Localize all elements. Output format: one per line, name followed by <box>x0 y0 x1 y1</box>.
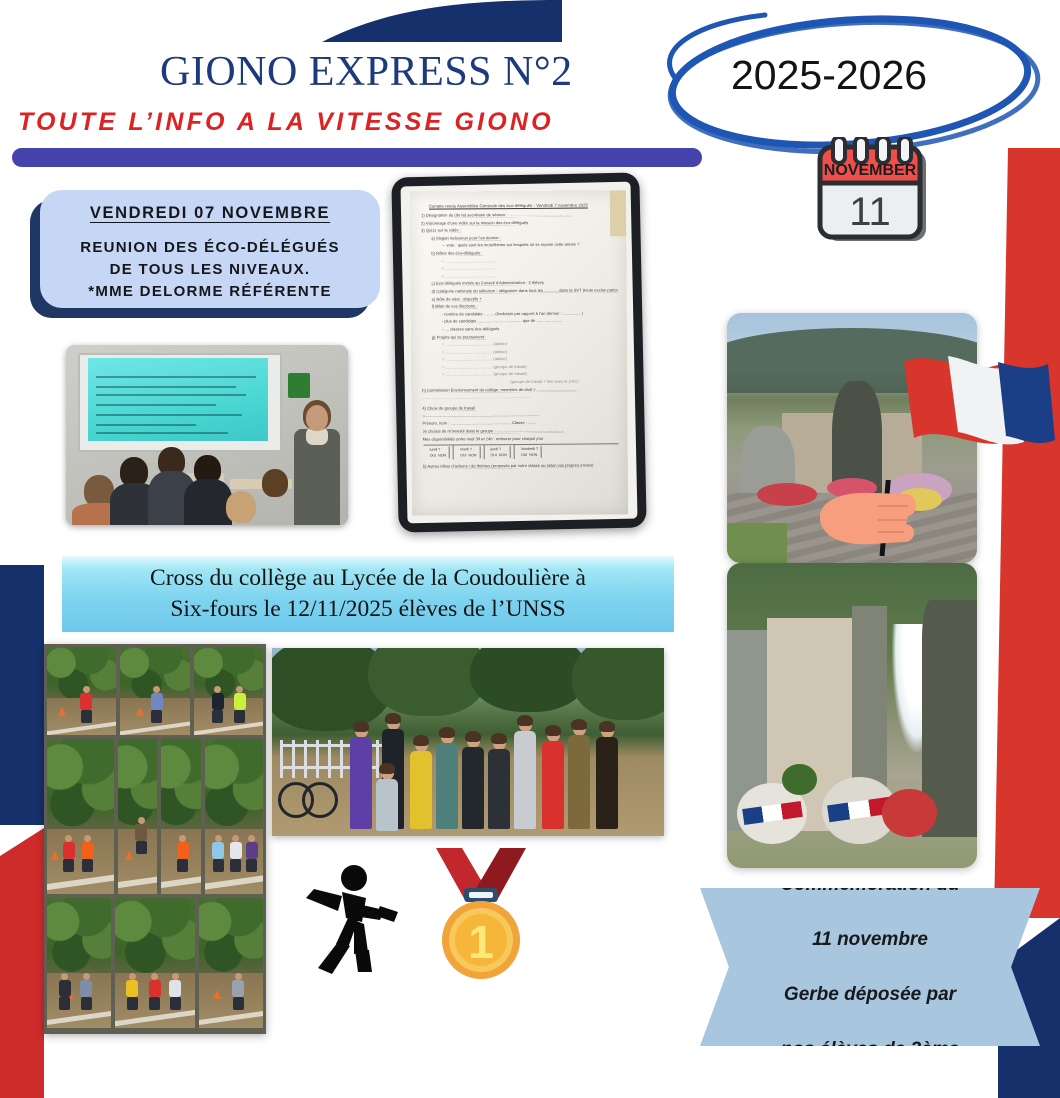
doc-bullet-label: (atelier) <box>493 341 507 346</box>
doc-bullet-label: (groupe de travail + lien avec le CVC) <box>510 378 579 383</box>
tagline: TOUTE L’INFO A LA VITESSE GIONO <box>18 108 554 137</box>
document-line: f) Bilan de vos élections : <box>432 302 618 308</box>
collage-photo <box>47 647 116 735</box>
calendar-month-label: NOVEMBER <box>824 162 917 179</box>
document-line: c) Eco-délégués invités au Conseil d’Adm… <box>431 279 617 285</box>
collage-photo <box>205 739 263 894</box>
doc-bullet-label: (groupe de travail) <box>493 364 526 369</box>
day-label: mardi ? <box>457 446 480 452</box>
document-line: h) Commission Environnement du collège, … <box>422 386 618 392</box>
callout-line-2: DE TOUS LES NIVEAUX. <box>80 259 340 281</box>
collage-photo <box>115 898 195 1028</box>
document-line: 4) Choix du groupe de travail <box>422 404 618 410</box>
answer-yes: OUI <box>430 453 436 457</box>
commemoration-banner: Commémoration du 11 novembre Gerbe dépos… <box>700 888 1040 1046</box>
hand-holding-flag-icon <box>820 480 925 558</box>
document-line: - plus de candidats ....................… <box>442 317 618 323</box>
tablet-device: Compte rendu Assemblée Générale des éco-… <box>391 172 646 532</box>
day-label: jeudi ? <box>487 445 510 451</box>
right-red-band <box>994 148 1060 918</box>
hand-drawn-circle-icon <box>645 8 1050 156</box>
eco-delegates-callout: VENDREDI 07 NOVEMBRE REUNION DES ÉCO-DÉL… <box>40 190 380 308</box>
commemoration-line-3: Gerbe déposée par <box>780 981 959 1009</box>
answer-no: NON <box>529 452 537 456</box>
document-line: Mes disponibilités entre midi 30 et 14h … <box>422 435 618 441</box>
document-line: a) Slogan inclusieux pour l’an dernier : <box>431 234 617 240</box>
document-line: 3) Quizz sur la vidéo : <box>421 226 617 232</box>
gold-medal-icon: 1 <box>422 848 540 983</box>
document-line: d) Catégorie nationale du sélection : ob… <box>431 287 617 293</box>
page-title: GIONO EXPRESS N°2 <box>160 48 573 96</box>
doc-bullet-label: (groupe de travail) <box>493 371 526 376</box>
cross-race-photo-collage <box>44 644 266 1034</box>
running-man-icon <box>292 856 404 976</box>
answer-no: NON <box>468 453 476 457</box>
left-red-band <box>0 828 44 1098</box>
document-line: Prénom, nom : ..........................… <box>422 419 618 425</box>
day-label: lundi ? <box>427 446 450 452</box>
document-line: Je choisis de m’investir dans le groupe … <box>422 427 618 433</box>
callout-date: VENDREDI 07 NOVEMBRE <box>90 204 330 223</box>
callout-line-1: REUNION DES ÉCO-DÉLÉGUÉS <box>80 237 340 259</box>
left-navy-band <box>0 565 44 825</box>
document-line: - nombre de candidats : ....... (évoluti… <box>442 310 618 316</box>
collage-photo <box>118 739 158 894</box>
collage-photo <box>199 898 263 1028</box>
answer-no: NON <box>499 452 507 456</box>
document-line: b) Rôles des éco-délégués : <box>431 249 617 255</box>
document-title: Compte rendu Assemblée Générale des éco-… <box>429 202 617 208</box>
collage-photo <box>194 647 263 735</box>
newsletter-page: GIONO EXPRESS N°2 TOUTE L’INFO A LA VITE… <box>0 0 1060 1098</box>
answer-no: NON <box>438 453 446 457</box>
document-line: 1) Désignation du (de la) secrétaire de … <box>421 211 617 217</box>
french-flag-icon <box>900 344 1055 474</box>
calendar-day-label: 11 <box>849 190 891 234</box>
medal-rank-label: 1 <box>468 916 494 968</box>
document-line: e) Rôle de relai : objectifs + <box>431 295 617 301</box>
cross-event-banner: Cross du collège au Lycée de la Coudouli… <box>62 556 674 632</box>
classroom-photo <box>66 345 348 525</box>
doc-bullet-label: (atelier) <box>493 349 507 354</box>
commemoration-line-2: 11 novembre <box>780 926 959 954</box>
calendar-november-11-icon: NOVEMBER 11 <box>814 137 938 245</box>
collage-photo <box>47 739 114 894</box>
document-line: 5) Autres idées d’actions / de thèmes (p… <box>423 462 619 468</box>
cross-line-2: Six-fours le 12/11/2025 élèves de l’UNSS <box>170 596 565 622</box>
day-label: Vendredi ? <box>518 445 542 451</box>
collage-photo <box>161 739 201 894</box>
callout-body: REUNION DES ÉCO-DÉLÉGUÉS DE TOUS LES NIV… <box>80 237 340 302</box>
answer-yes: OUI <box>521 452 527 456</box>
document-line: - .... classes sans éco-délégués <box>442 325 618 331</box>
commemoration-line-1: Commémoration du <box>780 871 959 899</box>
eco-delegates-report-document: Compte rendu Assemblée Générale des éco-… <box>410 190 628 515</box>
answer-yes: OUI <box>490 453 496 457</box>
doc-bullet-label: (atelier) <box>493 356 507 361</box>
document-line: → vote : quels sont les mots/thème sur l… <box>441 241 617 247</box>
answer-yes: OUI <box>460 453 466 457</box>
header-divider-bar <box>12 148 702 167</box>
collage-photo <box>47 898 111 1028</box>
document-line: 2) Visionnage d’une vidéo sur la mission… <box>421 219 617 225</box>
cross-line-1: Cross du collège au Lycée de la Coudouli… <box>150 565 586 591</box>
document-line: g) Projets qui se poursuivent : <box>432 333 618 339</box>
collage-photo <box>120 647 189 735</box>
commemoration-line-4: nos élèves de 3ème <box>780 1036 959 1064</box>
unss-group-photo <box>272 648 664 836</box>
callout-line-3: *MME DELORME RÉFÉRENTE <box>80 281 340 303</box>
memorial-photo-wreaths <box>727 563 977 868</box>
availability-table: lundi ? OUI NON mardi ? OUI NON jeudi ? … <box>424 443 619 459</box>
